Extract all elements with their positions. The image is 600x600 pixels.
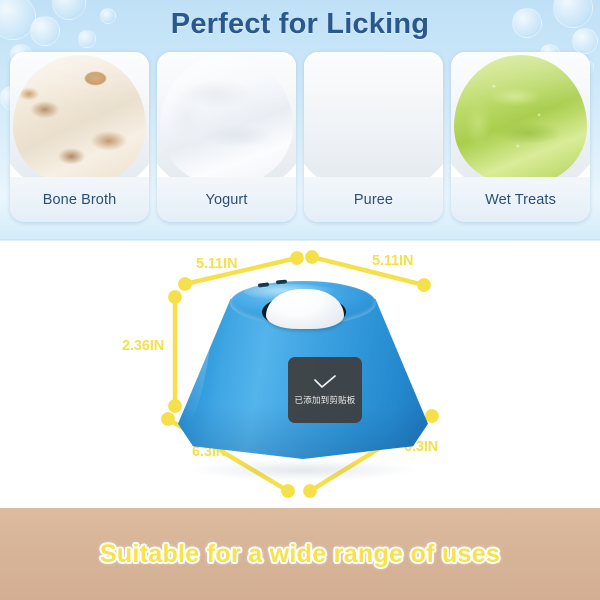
dimension-label-height: 2.36IN bbox=[122, 338, 164, 354]
food-photo bbox=[157, 52, 296, 177]
food-card-yogurt: Yogurt bbox=[157, 52, 296, 222]
footer-text: Suitable for a wide range of uses bbox=[100, 540, 500, 569]
food-photo bbox=[451, 52, 590, 177]
toast-notification: 已添加到剪贴板 bbox=[288, 357, 362, 423]
dimension-label-top-right: 5.11IN bbox=[372, 253, 413, 269]
photo-gloss-overlay bbox=[451, 52, 590, 177]
food-photo bbox=[304, 52, 443, 177]
food-card-list: Bone Broth Yogurt Puree bbox=[10, 52, 590, 222]
photo-gloss-overlay bbox=[10, 52, 149, 177]
food-card-label: Bone Broth bbox=[10, 177, 149, 222]
photo-gloss-overlay bbox=[157, 52, 296, 177]
product-marketing-image: Perfect for Licking Bone Broth Yogurt bbox=[0, 0, 600, 600]
bowl-drop-shadow bbox=[188, 459, 418, 481]
food-card-label: Puree bbox=[304, 177, 443, 222]
food-card-puree: Puree bbox=[304, 52, 443, 222]
footer-banner: Suitable for a wide range of uses bbox=[0, 508, 600, 600]
toast-message: 已添加到剪贴板 bbox=[295, 394, 356, 406]
dome-highlight bbox=[278, 293, 312, 305]
food-card-label: Yogurt bbox=[157, 177, 296, 222]
food-card-bone-broth: Bone Broth bbox=[10, 52, 149, 222]
top-banner-section: Perfect for Licking Bone Broth Yogurt bbox=[0, 0, 600, 241]
photo-gloss-overlay bbox=[304, 52, 443, 177]
food-card-label: Wet Treats bbox=[451, 177, 590, 222]
food-card-wet-treats: Wet Treats bbox=[451, 52, 590, 222]
page-title: Perfect for Licking bbox=[0, 8, 600, 41]
dimension-label-top-left: 5.11IN bbox=[196, 256, 237, 272]
check-icon bbox=[312, 375, 338, 389]
food-photo bbox=[10, 52, 149, 177]
